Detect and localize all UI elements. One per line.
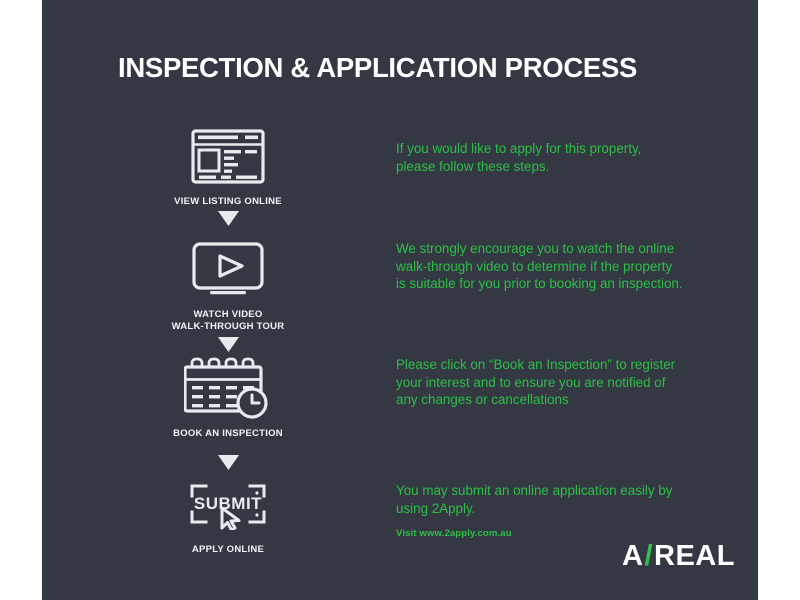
calendar-clock-icon	[138, 357, 318, 419]
browser-listing-icon	[138, 125, 318, 187]
video-play-monitor-icon	[138, 238, 318, 300]
logo-text-right: REAL	[654, 540, 735, 573]
poster-canvas: INSPECTION & APPLICATION PROCESS VIEW LI…	[42, 0, 758, 600]
step-copy-apply-online: You may submit an online application eas…	[396, 482, 726, 517]
step-watch-video: WATCH VIDEO WALK-THROUGH TOUR	[138, 238, 318, 333]
step-label: APPLY ONLINE	[138, 544, 318, 556]
step-copy-view-listing: If you would like to apply for this prop…	[396, 140, 726, 175]
step-apply-online: SUBMIT APPLY ONLINE	[138, 482, 318, 556]
brand-logo: A / REAL	[622, 540, 735, 573]
step-book-inspection: BOOK AN INSPECTION	[138, 357, 318, 440]
step-view-listing-online: VIEW LISTING ONLINE	[138, 125, 318, 208]
submit-cursor-icon: SUBMIT	[138, 482, 318, 530]
logo-slash-icon: /	[644, 540, 653, 573]
step-label: WATCH VIDEO WALK-THROUGH TOUR	[138, 309, 318, 333]
submit-button-text: SUBMIT	[194, 494, 262, 513]
chevron-down-triangle-icon	[218, 455, 239, 470]
apply-online-note: Visit www.2apply.com.au	[396, 528, 726, 540]
logo-text-left: A	[622, 540, 643, 573]
step-label: VIEW LISTING ONLINE	[138, 196, 318, 208]
chevron-down-triangle-icon	[218, 211, 239, 226]
step-copy-book-inspection: Please click on “Book an Inspection” to …	[396, 356, 726, 409]
chevron-down-triangle-icon	[218, 337, 239, 352]
page-title: INSPECTION & APPLICATION PROCESS	[118, 52, 718, 84]
step-copy-watch-video: We strongly encourage you to watch the o…	[396, 240, 726, 293]
step-label: BOOK AN INSPECTION	[138, 428, 318, 440]
